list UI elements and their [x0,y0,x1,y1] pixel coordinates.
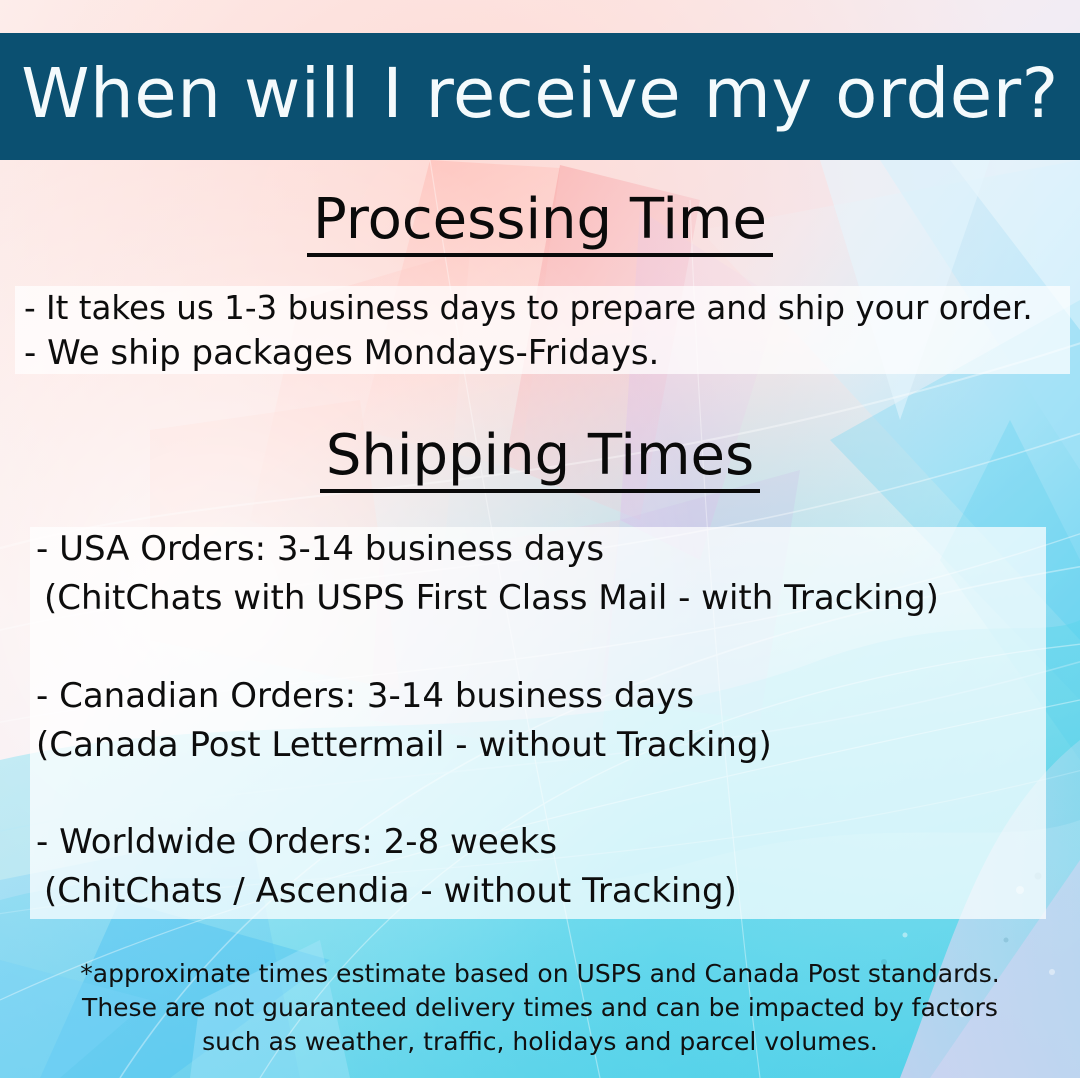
footnote-line-1: *approximate times estimate based on USP… [0,957,1080,991]
section-heading-processing-time: Processing Time [0,192,1080,257]
header-band: When will I receive my order? [0,33,1080,160]
shipping-usa-line-1: - USA Orders: 3-14 business days [36,532,604,566]
shipping-worldwide-line-1: - Worldwide Orders: 2-8 weeks [36,825,557,859]
footnote-line-2: These are not guaranteed delivery times … [0,991,1080,1025]
section-heading-shipping-times-label: Shipping Times [320,428,760,493]
page-title: When will I receive my order? [21,60,1058,133]
shipping-canada-line-2: (Canada Post Lettermail - without Tracki… [36,728,772,762]
shipping-usa-line-2: (ChitChats with USPS First Class Mail - … [44,581,939,615]
footnote-line-3: such as weather, traffic, holidays and p… [0,1025,1080,1059]
shipping-worldwide-line-2: (ChitChats / Ascendia - without Tracking… [44,874,737,908]
faq-shipping-info-graphic: When will I receive my order? Processing… [0,0,1080,1078]
processing-time-line-1: - It takes us 1-3 business days to prepa… [24,292,1033,325]
processing-time-line-2: - We ship packages Mondays-Fridays. [24,336,659,370]
section-heading-shipping-times: Shipping Times [0,428,1080,493]
shipping-canada-line-1: - Canadian Orders: 3-14 business days [36,679,694,713]
section-heading-processing-time-label: Processing Time [307,192,773,257]
